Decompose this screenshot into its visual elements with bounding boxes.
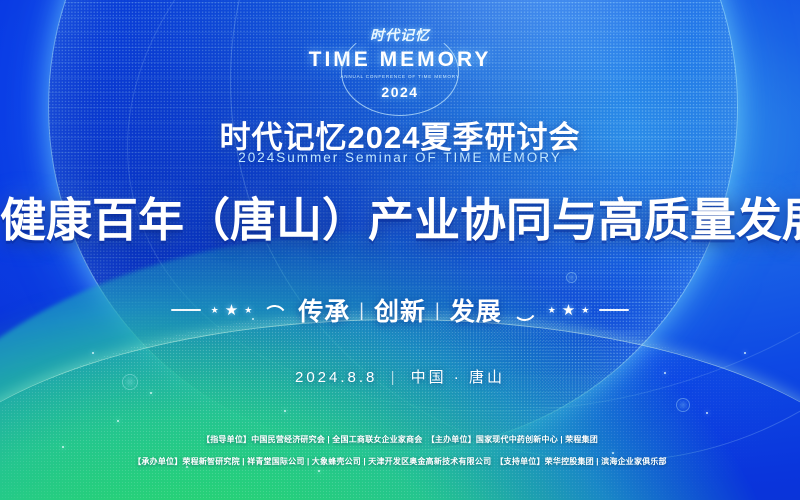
event-logo: 时代记忆 TIME MEMORY ANNUAL CONFERENCE OF TI…	[0, 30, 800, 100]
credit-row-organizer-support: 【承办单位】荣程新智研究院 | 祥青堂国际公司 | 大象蜂壳公司 | 天津开发区…	[0, 458, 800, 466]
poster-content: 时代记忆 TIME MEMORY ANNUAL CONFERENCE OF TI…	[0, 0, 800, 500]
logo-ring-decoration	[341, 28, 459, 116]
swoosh-left-icon	[262, 301, 288, 319]
slogan-separator-2: |	[435, 300, 441, 321]
slogan-word-1: 传承	[298, 292, 350, 328]
swoosh-right-icon	[512, 301, 538, 319]
main-title: 健康百年（唐山）产业协同与高质量发展	[0, 184, 800, 250]
event-dateline: 2024.8.8 | 中国 · 唐山	[0, 366, 800, 387]
organizer-credits: 【指导单位】中国民营经济研究会 | 全国工商联女企业家商会 【主办单位】国家现代…	[0, 436, 800, 466]
slogan-words: 传承 | 创新 | 发展	[298, 292, 501, 328]
star-icon: ★	[244, 306, 252, 315]
event-poster: 时代记忆 TIME MEMORY ANNUAL CONFERENCE OF TI…	[0, 0, 800, 500]
star-icon: ★	[225, 303, 238, 318]
event-location: 中国 · 唐山	[411, 369, 505, 386]
star-icon: ★	[562, 303, 575, 318]
headline-english: 2024Summer Seminar OF TIME MEMORY	[0, 150, 800, 165]
credit-row-guidance-host: 【指导单位】中国民营经济研究会 | 全国工商联女企业家商会 【主办单位】国家现代…	[0, 436, 800, 444]
star-icon: ★	[548, 306, 556, 315]
slogan-dash-left	[171, 309, 201, 311]
logo-subline: ANNUAL CONFERENCE OF TIME MEMORY	[0, 74, 800, 81]
slogan-stars-left: ★ ★ ★	[211, 303, 253, 318]
slogan-stars-right: ★ ★ ★	[548, 303, 590, 318]
slogan-dash-right	[599, 309, 629, 311]
slogan-bar: ★ ★ ★ 传承 | 创新 | 发展 ★ ★ ★	[0, 292, 800, 328]
star-icon: ★	[581, 306, 589, 315]
slogan-separator-1: |	[359, 300, 365, 321]
event-date: 2024.8.8	[295, 369, 377, 386]
slogan-word-2: 创新	[374, 292, 426, 328]
slogan-word-3: 发展	[450, 292, 502, 328]
dateline-separator: |	[391, 369, 398, 386]
star-icon: ★	[211, 306, 219, 315]
